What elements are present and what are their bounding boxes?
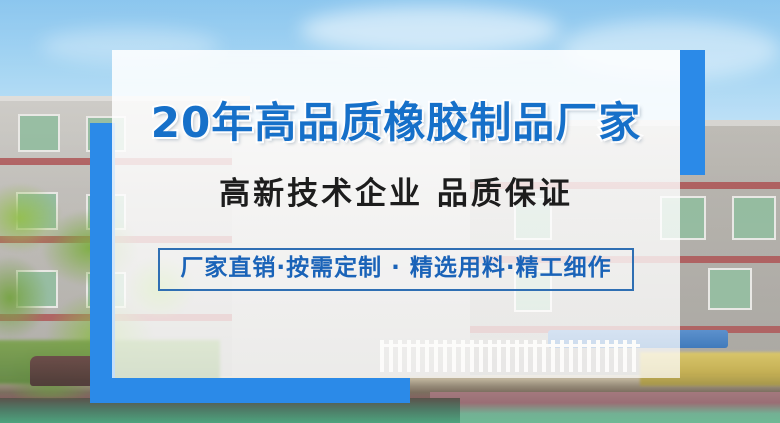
bottom-accent-bar	[90, 378, 410, 403]
tagline-box: 厂家直销·按需定制 · 精选用料·精工细作	[158, 248, 633, 291]
promo-banner: 20年高品质橡胶制品厂家 高新技术企业 品质保证 厂家直销·按需定制 · 精选用…	[0, 0, 780, 423]
banner-subtitle: 高新技术企业 品质保证	[219, 179, 573, 210]
banner-headline: 20年高品质橡胶制品厂家	[151, 102, 641, 144]
right-accent-bar	[680, 50, 705, 175]
banner-content: 20年高品质橡胶制品厂家 高新技术企业 品质保证 厂家直销·按需定制 · 精选用…	[112, 50, 680, 378]
banner-tagline: 厂家直销·按需定制 · 精选用料·精工细作	[180, 257, 611, 280]
